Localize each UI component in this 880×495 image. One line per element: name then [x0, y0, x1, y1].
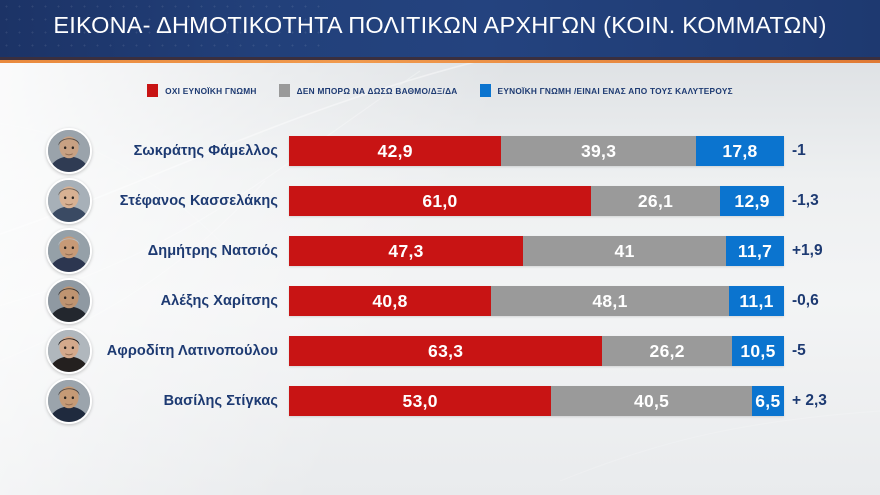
bar-segment-negative: 40,8 [289, 286, 491, 316]
poll-rows: Σωκράτης Φάμελλος42,939,317,8-1Στέφανος … [0, 126, 880, 426]
avatar-charitsis [46, 278, 92, 324]
legend: ΟΧΙ ΕΥΝΟΪΚΗ ΓΝΩΜΗ ΔΕΝ ΜΠΟΡΩ ΝΑ ΔΩΣΩ ΒΑΘΜ… [0, 84, 880, 97]
legend-label-positive: ΕΥΝΟΪΚΗ ΓΝΩΜΗ /ΕΙΝΑΙ ΕΝΑΣ ΑΠΟ ΤΟΥΣ ΚΑΛΥΤ… [498, 86, 733, 96]
politician-name: Στέφανος Κασσελάκης [100, 193, 278, 209]
table-row: Βασίλης Στίγκας53,040,56,5+ 2,3 [0, 376, 880, 426]
table-row: Δημήτρης Νατσιός47,34111,7+1,9 [0, 226, 880, 276]
bar-segment-dontknow: 26,2 [602, 336, 732, 366]
stacked-bar: 61,026,112,9 [289, 186, 784, 216]
stacked-bar: 40,848,111,1 [289, 286, 784, 316]
stacked-bar: 53,040,56,5 [289, 386, 784, 416]
poll-graphic: ΕΙΚΟΝΑ- ΔΗΜΟΤΙΚΟΤΗΤΑ ΠΟΛΙΤΙΚΩΝ ΑΡΧΗΓΩΝ (… [0, 0, 880, 495]
bar-segment-negative: 53,0 [289, 386, 551, 416]
politician-name: Δημήτρης Νατσιός [100, 243, 278, 259]
stacked-bar: 42,939,317,8 [289, 136, 784, 166]
title-bar: ΕΙΚΟΝΑ- ΔΗΜΟΤΙΚΟΤΗΤΑ ΠΟΛΙΤΙΚΩΝ ΑΡΧΗΓΩΝ (… [0, 0, 880, 57]
legend-swatch-negative-icon [147, 84, 158, 97]
change-value: -0,6 [792, 292, 862, 310]
bar-segment-dontknow: 39,3 [501, 136, 696, 166]
bar-segment-dontknow: 48,1 [491, 286, 729, 316]
bar-segment-dontknow: 26,1 [591, 186, 720, 216]
table-row: Αφροδίτη Λατινοπούλου63,326,210,5-5 [0, 326, 880, 376]
legend-item-positive: ΕΥΝΟΪΚΗ ΓΝΩΜΗ /ΕΙΝΑΙ ΕΝΑΣ ΑΠΟ ΤΟΥΣ ΚΑΛΥΤ… [480, 84, 733, 97]
bar-segment-negative: 61,0 [289, 186, 591, 216]
change-value: +1,9 [792, 242, 862, 260]
politician-name: Αλέξης Χαρίτσης [100, 293, 278, 309]
table-row: Σωκράτης Φάμελλος42,939,317,8-1 [0, 126, 880, 176]
page-title: ΕΙΚΟΝΑ- ΔΗΜΟΤΙΚΟΤΗΤΑ ΠΟΛΙΤΙΚΩΝ ΑΡΧΗΓΩΝ (… [0, 12, 880, 39]
change-value: -1 [792, 142, 862, 160]
table-row: Στέφανος Κασσελάκης61,026,112,9-1,3 [0, 176, 880, 226]
bar-segment-dontknow: 40,5 [551, 386, 751, 416]
avatar-kasselakis [46, 178, 92, 224]
bar-segment-positive: 10,5 [732, 336, 784, 366]
change-value: -1,3 [792, 192, 862, 210]
stacked-bar: 47,34111,7 [289, 236, 784, 266]
avatar-latinopoulou [46, 328, 92, 374]
bar-segment-positive: 17,8 [696, 136, 784, 166]
accent-rule-orange [0, 60, 880, 63]
change-value: + 2,3 [792, 392, 862, 410]
legend-swatch-positive-icon [480, 84, 491, 97]
politician-name: Αφροδίτη Λατινοπούλου [100, 343, 278, 359]
avatar-famellos [46, 128, 92, 174]
stacked-bar: 63,326,210,5 [289, 336, 784, 366]
legend-swatch-dontknow-icon [279, 84, 290, 97]
table-row: Αλέξης Χαρίτσης40,848,111,1-0,6 [0, 276, 880, 326]
change-value: -5 [792, 342, 862, 360]
legend-item-negative: ΟΧΙ ΕΥΝΟΪΚΗ ΓΝΩΜΗ [147, 84, 257, 97]
bar-segment-positive: 6,5 [752, 386, 784, 416]
politician-name: Βασίλης Στίγκας [100, 393, 278, 409]
bar-segment-positive: 11,1 [729, 286, 784, 316]
bar-segment-dontknow: 41 [523, 236, 726, 266]
legend-label-dontknow: ΔΕΝ ΜΠΟΡΩ ΝΑ ΔΩΣΩ ΒΑΘΜΟ/ΔΞ/ΔΑ [297, 86, 458, 96]
legend-item-dontknow: ΔΕΝ ΜΠΟΡΩ ΝΑ ΔΩΣΩ ΒΑΘΜΟ/ΔΞ/ΔΑ [279, 84, 458, 97]
avatar-natsios [46, 228, 92, 274]
bar-segment-positive: 12,9 [720, 186, 784, 216]
legend-label-negative: ΟΧΙ ΕΥΝΟΪΚΗ ΓΝΩΜΗ [165, 86, 257, 96]
politician-name: Σωκράτης Φάμελλος [100, 143, 278, 159]
avatar-stigkas [46, 378, 92, 424]
bar-segment-negative: 42,9 [289, 136, 501, 166]
bar-segment-negative: 47,3 [289, 236, 523, 266]
bar-segment-positive: 11,7 [726, 236, 784, 266]
bar-segment-negative: 63,3 [289, 336, 602, 366]
